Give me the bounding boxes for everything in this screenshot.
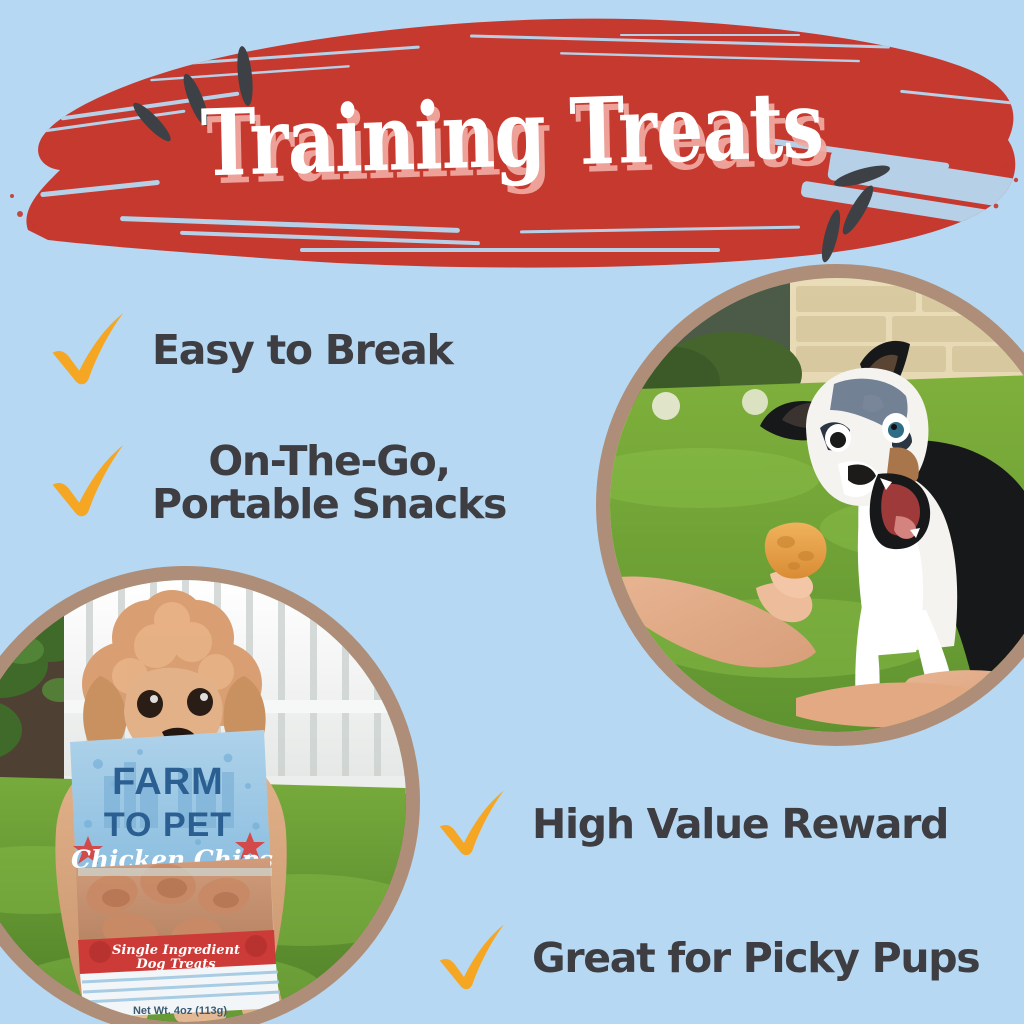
- feature-list-bottom: High Value Reward Great for Picky Pups: [432, 786, 1024, 998]
- feature-label: Easy to Break: [152, 329, 452, 372]
- feature-label: Great for Picky Pups: [532, 937, 979, 980]
- collie-photo-illustration: [610, 278, 1024, 732]
- feature-item-easy-to-break: Easy to Break: [44, 308, 574, 394]
- package-brand-line-2: TO PET: [104, 806, 232, 844]
- feature-label: High Value Reward: [532, 803, 948, 846]
- check-icon: [432, 920, 510, 998]
- check-icon: [432, 786, 510, 864]
- feature-item-high-value-reward: High Value Reward: [432, 786, 1024, 864]
- feature-item-picky-pups: Great for Picky Pups: [432, 920, 1024, 998]
- header-banner: Training Treats: [0, 0, 1024, 275]
- feature-label: On-The-Go, Portable Snacks: [152, 440, 506, 527]
- package-net-weight: Net Wt. 4oz (113g): [133, 1005, 227, 1017]
- poodle-holding-bag-photo: FARM TO PET Chicken Chips: [0, 566, 420, 1024]
- poster-canvas: Training Treats Easy to Break On-The-Go,…: [0, 0, 1024, 1024]
- feature-item-on-the-go: On-The-Go, Portable Snacks: [44, 440, 574, 527]
- dog-taking-treat-photo: [596, 264, 1024, 746]
- poodle-photo-illustration: FARM TO PET Chicken Chips: [0, 580, 406, 1022]
- page-title: Training Treats: [102, 76, 923, 193]
- package-brand-line-1: FARM: [112, 761, 224, 803]
- check-icon: [44, 440, 130, 526]
- package-band-line-1: Single Ingredient: [112, 943, 240, 958]
- feature-list-top: Easy to Break On-The-Go, Portable Snacks: [44, 308, 574, 527]
- check-icon: [44, 308, 130, 394]
